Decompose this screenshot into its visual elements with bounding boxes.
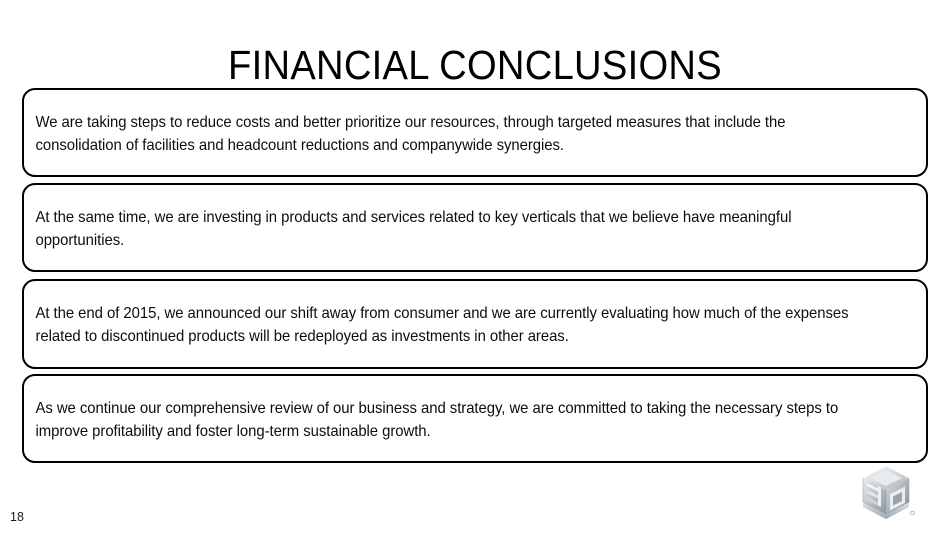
conclusion-box-4-text: As we continue our comprehensive review … [24, 395, 885, 443]
conclusion-box-2-text: At the same time, we are investing in pr… [24, 204, 885, 252]
3d-systems-cube-logo [855, 463, 917, 523]
conclusion-box-1-text: We are taking steps to reduce costs and … [24, 109, 885, 157]
conclusion-box-1: We are taking steps to reduce costs and … [22, 88, 928, 177]
conclusion-box-3-text: At the end of 2015, we announced our shi… [24, 301, 885, 348]
conclusion-box-4: As we continue our comprehensive review … [22, 374, 928, 463]
conclusion-box-3: At the end of 2015, we announced our shi… [22, 279, 928, 369]
registered-trademark-icon [911, 511, 915, 515]
conclusion-box-2: At the same time, we are investing in pr… [22, 183, 928, 272]
presentation-slide: FINANCIAL CONCLUSIONS We are taking step… [0, 0, 950, 534]
page-number: 18 [10, 509, 24, 525]
page-title: FINANCIAL CONCLUSIONS [33, 41, 917, 89]
